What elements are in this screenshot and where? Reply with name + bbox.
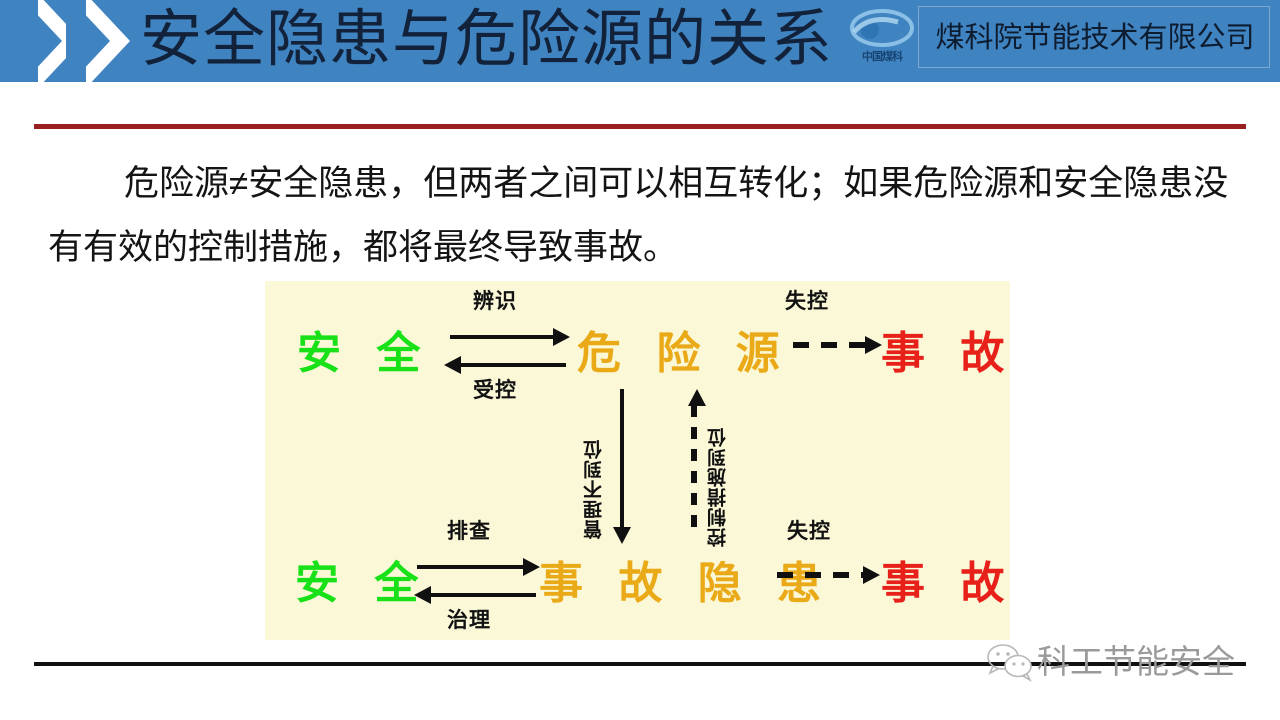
- company-name: 煤科院节能技术有限公司: [919, 7, 1271, 69]
- chevron-icon-2-cut: [66, 0, 110, 82]
- bottom-label-investigate: 排查: [447, 515, 491, 545]
- top-arrow-right-head: [553, 328, 570, 346]
- footer-brand: 科工节能安全: [985, 638, 1245, 686]
- bottom-arrow-right-head: [523, 558, 540, 576]
- down-arrow-head: [613, 527, 631, 544]
- down-arrow-shaft: [620, 389, 624, 529]
- header-bar: 安全隐患与危险源的关系 中国煤科 煤科院节能技术有限公司: [0, 0, 1280, 82]
- body-paragraph: 危险源≠安全隐患，但两者之间可以相互转化；如果危险源和安全隐患没有有效的控制措施…: [48, 152, 1236, 280]
- relationship-diagram: 安 全 辨识 受控 危 险 源 失控 事 故 管理不到位 控制措施到位 安 全 …: [265, 281, 1010, 640]
- bottom-arrow-right-shaft: [417, 565, 525, 569]
- up-dashed-shaft: [691, 405, 697, 531]
- company-watermark-logo: 中国煤科: [840, 8, 924, 70]
- top-node-safe: 安 全: [297, 317, 430, 381]
- watermark-logo-text: 中国煤科: [840, 48, 924, 64]
- bottom-node-accident-hazard: 事 故 隐 患: [539, 547, 831, 611]
- header-divider: [34, 124, 1246, 129]
- page-title: 安全隐患与危险源的关系: [140, 0, 833, 80]
- top-arrow-left-shaft: [461, 363, 566, 367]
- top-label-controlled: 受控: [473, 374, 517, 404]
- top-dashed-head: [865, 336, 882, 354]
- top-label-identify: 辨识: [473, 285, 517, 315]
- vertical-label-control-measures-in-place: 控制措施到位: [705, 389, 732, 547]
- top-label-loss-of-control: 失控: [785, 285, 829, 315]
- company-name-box: 煤科院节能技术有限公司: [918, 6, 1270, 68]
- vertical-label-management-not-in-place: 管理不到位: [581, 389, 608, 539]
- bottom-arrow-left-shaft: [431, 593, 536, 597]
- footer-brand-text: 科工节能安全: [1037, 638, 1235, 686]
- bottom-node-accident: 事 故: [881, 547, 1014, 611]
- top-dashed-shaft: [793, 342, 867, 348]
- top-arrow-right-shaft: [450, 335, 555, 339]
- top-arrow-left-head: [444, 356, 461, 374]
- up-arrow-head: [688, 389, 706, 406]
- bottom-label-remediate: 治理: [447, 604, 491, 634]
- bottom-dashed-shaft: [777, 572, 865, 578]
- bottom-node-safe: 安 全: [295, 547, 428, 611]
- bottom-label-loss-of-control: 失控: [787, 515, 831, 545]
- chevron-icon-1-cut: [18, 0, 62, 82]
- top-node-accident: 事 故: [881, 317, 1014, 381]
- top-node-hazard-source: 危 险 源: [577, 317, 790, 381]
- bottom-dashed-head: [863, 566, 880, 584]
- bottom-arrow-left-head: [414, 586, 431, 604]
- wechat-icon: [985, 642, 1035, 682]
